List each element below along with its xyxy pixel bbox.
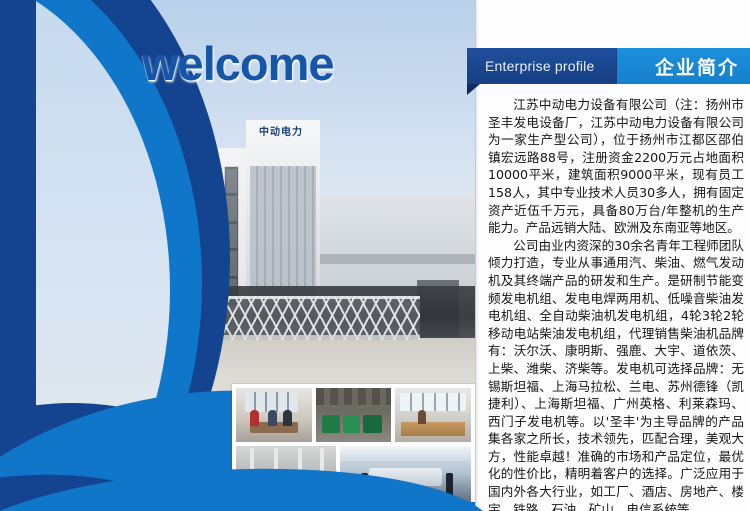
- building-logo-text: 中动电力: [248, 124, 314, 142]
- office-meeting-photo: [236, 388, 312, 442]
- ribbon-english-label: Enterprise profile: [485, 58, 594, 74]
- ribbon-chinese-segment: 企业简介: [617, 48, 750, 84]
- company-profile-banner: 中动电力 江苏中动电力设备有限公司 Zhongdong Power Equipm…: [0, 0, 750, 511]
- profile-body-text: 江苏中动电力设备有限公司（注：扬州市圣丰发电设备厂，江苏中动电力设备有限公司为一…: [488, 96, 744, 511]
- hero-panel: 中动电力 江苏中动电力设备有限公司 Zhongdong Power Equipm…: [0, 0, 475, 511]
- open-office-photo: [395, 388, 471, 442]
- ribbon-chinese-label: 企业简介: [655, 53, 739, 80]
- welcome-heading: welcome: [142, 36, 334, 91]
- ribbon-english-segment: Enterprise profile: [467, 48, 617, 84]
- ribbon-fold-tail: [467, 84, 480, 95]
- enterprise-profile-ribbon: Enterprise profile 企业简介: [467, 48, 750, 84]
- profile-paragraph-1: 江苏中动电力设备有限公司（注：扬州市圣丰发电设备厂，江苏中动电力设备有限公司为一…: [488, 96, 744, 237]
- genset-workshop-photo: [316, 388, 392, 442]
- profile-paragraph-2: 公司由业内资深的30余名青年工程师团队倾力打造，专业从事通用汽、柴油、燃气发动机…: [488, 237, 744, 511]
